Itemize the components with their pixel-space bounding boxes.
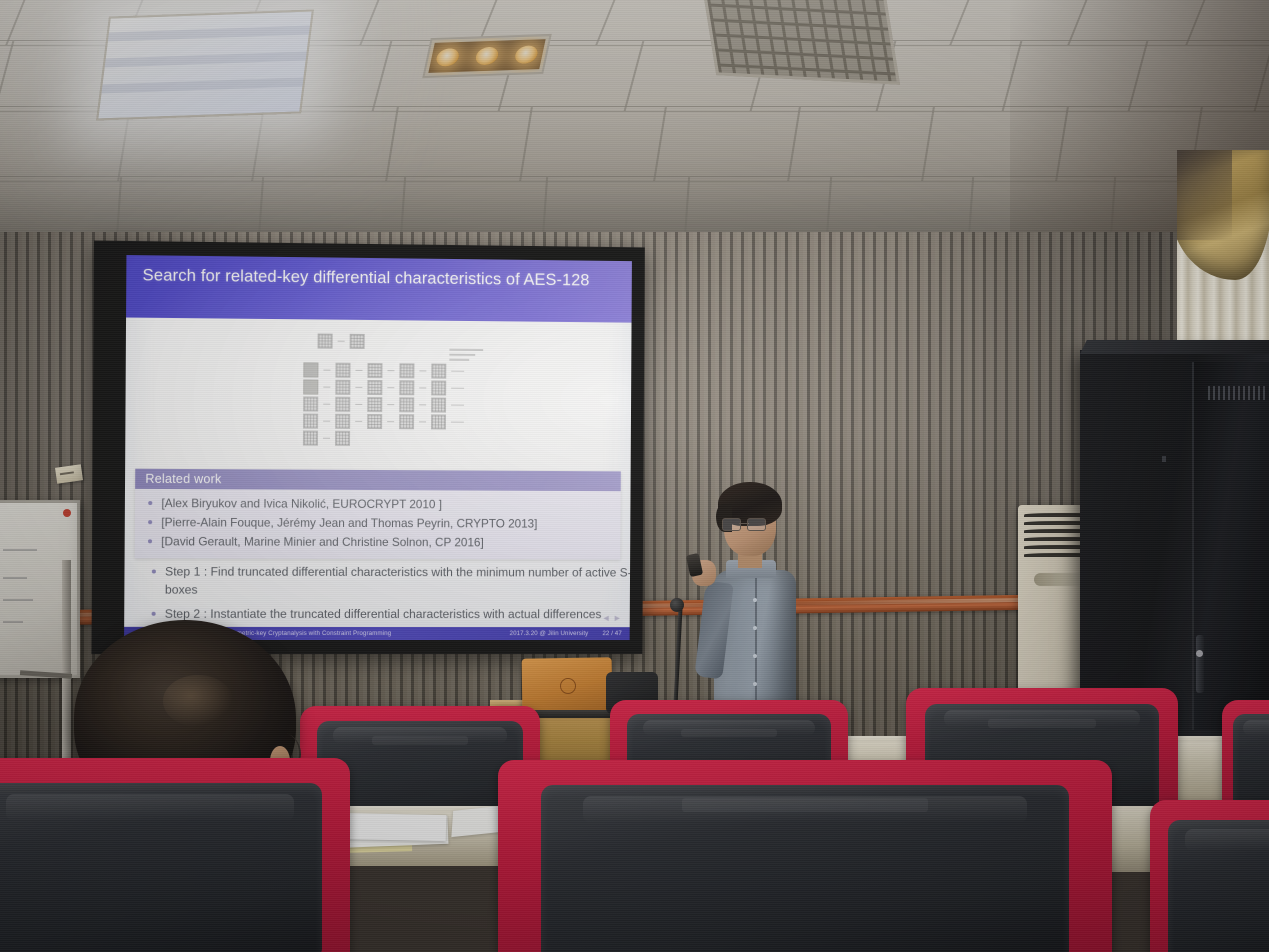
diagram-row — [303, 362, 464, 378]
lock-icon[interactable] — [1196, 650, 1203, 657]
diagram-legend — [449, 349, 491, 369]
lecture-hall-photo: Search for related-key differential char… — [0, 0, 1269, 952]
slide-title: Search for related-key differential char… — [126, 255, 632, 323]
aes-round-diagram — [303, 345, 489, 454]
diagram-row — [303, 396, 464, 412]
slide-nav-controls[interactable]: ◀ ▶ — [603, 614, 621, 622]
projection-screen: Search for related-key differential char… — [91, 241, 644, 655]
server-rack-cabinet — [1080, 350, 1269, 742]
list-item: [Alex Biryukov and Ivica Nikolić, EUROCR… — [161, 494, 612, 515]
chair — [1150, 800, 1269, 952]
chair — [0, 758, 350, 952]
footer-page-number: 22 / 47 — [588, 630, 622, 637]
list-item: [Pierre-Alain Fouque, Jérémy Jean and Th… — [161, 513, 612, 534]
presentation-slide: Search for related-key differential char… — [124, 255, 632, 640]
presenter — [700, 482, 808, 710]
diagram-row — [303, 379, 464, 395]
list-item: [David Gerault, Marine Minier and Christ… — [161, 532, 612, 553]
dell-logo-icon — [560, 678, 576, 694]
rack-vent — [1208, 386, 1268, 400]
magnet-icon — [63, 509, 71, 517]
list-item: Step 1 : Find truncated differential cha… — [165, 563, 632, 599]
diagram-row — [318, 333, 365, 348]
related-work-heading: Related work — [135, 469, 621, 491]
diagram-row — [303, 431, 350, 446]
microphone-icon — [670, 598, 684, 612]
related-work-block: Related work [Alex Biryukov and Ivica Ni… — [135, 469, 621, 560]
whiteboard-stand — [62, 560, 71, 770]
laptop[interactable] — [522, 657, 613, 712]
footer-date-venue: 2017.3.20 @ Jilin University — [460, 630, 589, 637]
related-work-list: [Alex Biryukov and Ivica Nikolić, EUROCR… — [135, 494, 621, 553]
rack-handle[interactable] — [1196, 635, 1204, 693]
chair — [498, 760, 1112, 952]
glasses-icon — [722, 518, 766, 529]
diagram-row — [303, 414, 464, 430]
ceiling — [0, 0, 1269, 262]
